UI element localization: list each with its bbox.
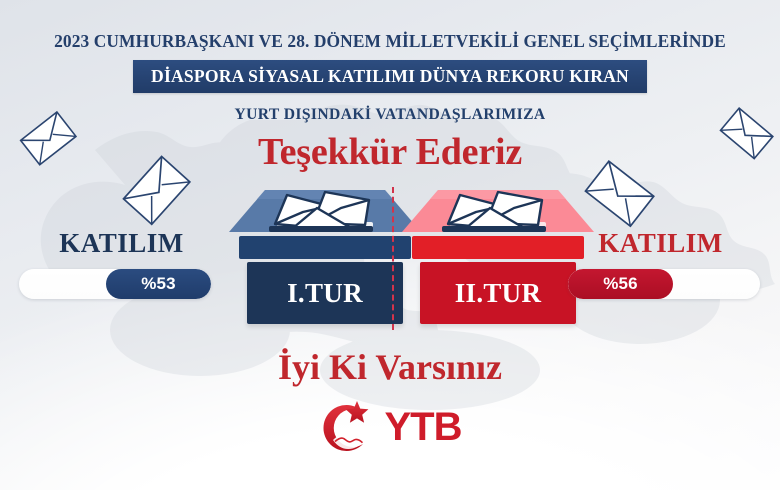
page-kicker: 2023 CUMHURBAŞKANI VE 28. DÖNEM MİLLETVE… — [0, 31, 780, 52]
ballot-box-body-round-1: I.TUR — [247, 262, 403, 324]
participation-value-round-1: %53 — [141, 274, 176, 294]
ballot-envelopes-round-1 — [225, 184, 425, 242]
ballot-box-label-round-1: I.TUR — [287, 278, 363, 309]
participation-value-pill-round-1: %53 — [106, 269, 211, 299]
ytb-logo-text: YTB — [385, 407, 462, 447]
envelope-icon — [714, 100, 780, 166]
ytb-logo: YTB — [0, 398, 780, 456]
participation-bar-round-1: %53 — [19, 269, 211, 299]
ballot-box-label-round-2: II.TUR — [455, 278, 542, 309]
participation-value-pill-round-2: %56 — [568, 269, 673, 299]
envelope-icon — [13, 103, 83, 173]
headline-ribbon: DİASPORA SİYASAL KATILIMI DÜNYA REKORU K… — [133, 60, 647, 93]
ballot-box-band-round-1 — [239, 236, 411, 259]
ballot-box-round-1: I.TUR — [225, 186, 425, 332]
envelope-icon — [115, 148, 199, 232]
participation-label-round-2: KATILIM — [553, 228, 768, 259]
round-divider — [392, 187, 394, 330]
participation-label-round-1: KATILIM — [14, 228, 229, 259]
closing-headline: İyi Ki Varsınız — [0, 346, 780, 388]
headline-ribbon-label: DİASPORA SİYASAL KATILIMI DÜNYA REKORU K… — [151, 66, 629, 87]
infographic-canvas: 2023 CUMHURBAŞKANI VE 28. DÖNEM MİLLETVE… — [0, 0, 780, 490]
participation-bar-round-2: %56 — [568, 269, 760, 299]
ballot-box-body-round-2: II.TUR — [420, 262, 576, 324]
crescent-star-handshake-icon — [319, 398, 379, 456]
page-subline: YURT DIŞINDAKİ VATANDAŞLARIMIZA — [0, 106, 780, 124]
participation-value-round-2: %56 — [603, 274, 638, 294]
ballot-box-round-2: II.TUR — [398, 186, 598, 332]
